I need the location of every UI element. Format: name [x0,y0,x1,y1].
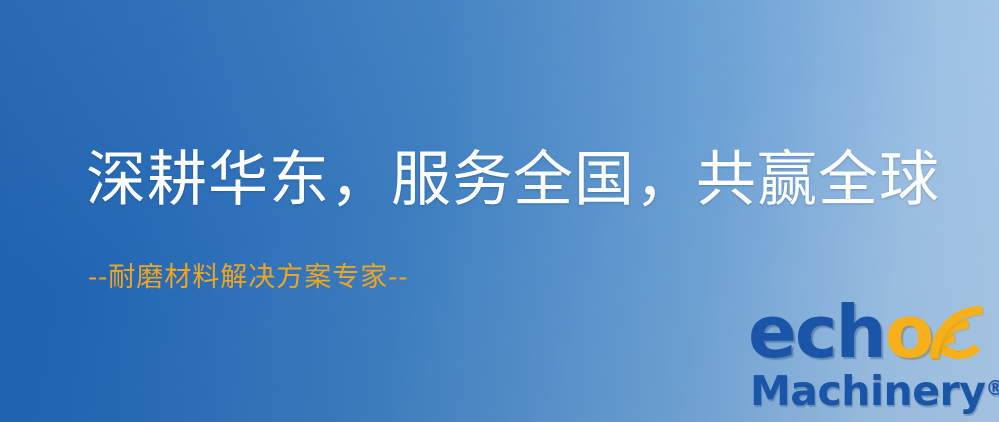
registered-trademark-icon: ® [985,376,999,400]
logo-subword: Machinery® [750,368,999,412]
logo-subword-text: Machinery [750,367,985,415]
signal-arcs-icon [926,290,999,366]
banner-subtitle: --耐磨材料解决方案专家-- [88,264,409,291]
logo-wordmark: echo [748,296,932,368]
promotional-banner: 深耕华东，服务全国，共赢全球 --耐磨材料解决方案专家-- echo Machi… [0,0,999,422]
logo-wordmark-ech: ech [748,290,885,374]
echo-machinery-logo: echo Machinery® [748,296,999,422]
banner-headline: 深耕华东，服务全国，共赢全球 [86,150,940,210]
